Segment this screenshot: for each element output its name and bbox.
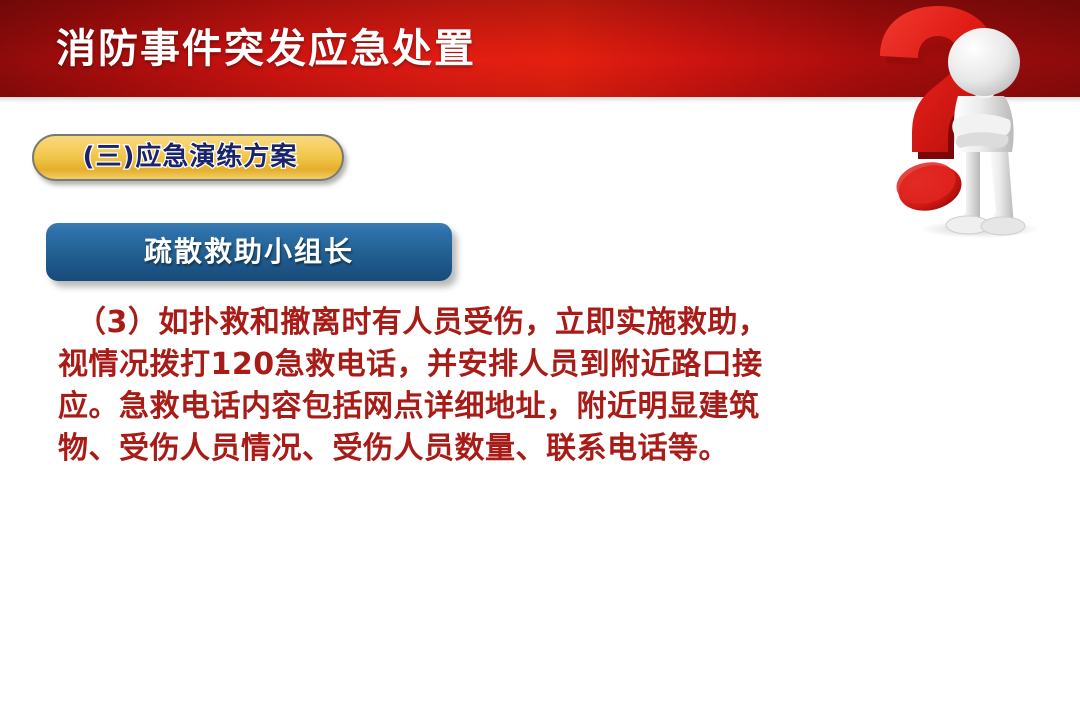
body-line: 物、受伤人员情况、受伤人员数量、联系电话等。 bbox=[58, 428, 888, 470]
question-mark-thinker-icon bbox=[846, 0, 1080, 240]
slide-canvas: 消防事件突发应急处置 bbox=[0, 0, 1080, 720]
body-line: 应。急救电话内容包括网点详细地址，附近明显建筑 bbox=[58, 386, 888, 428]
section-heading-pill: (三)应急演练方案 bbox=[32, 134, 344, 181]
body-line: （3）如扑救和撤离时有人员受伤，立即实施救助， bbox=[58, 302, 888, 344]
role-title-label: 疏散救助小组长 bbox=[46, 223, 452, 281]
role-title-box: 疏散救助小组长 bbox=[46, 223, 452, 281]
page-title: 消防事件突发应急处置 bbox=[56, 20, 856, 78]
body-paragraph: （3）如扑救和撤离时有人员受伤，立即实施救助， 视情况拨打120急救电话，并安排… bbox=[58, 302, 888, 470]
section-heading-label: (三)应急演练方案 bbox=[34, 136, 346, 179]
body-line: 视情况拨打120急救电话，并安排人员到附近路口接 bbox=[58, 344, 888, 386]
